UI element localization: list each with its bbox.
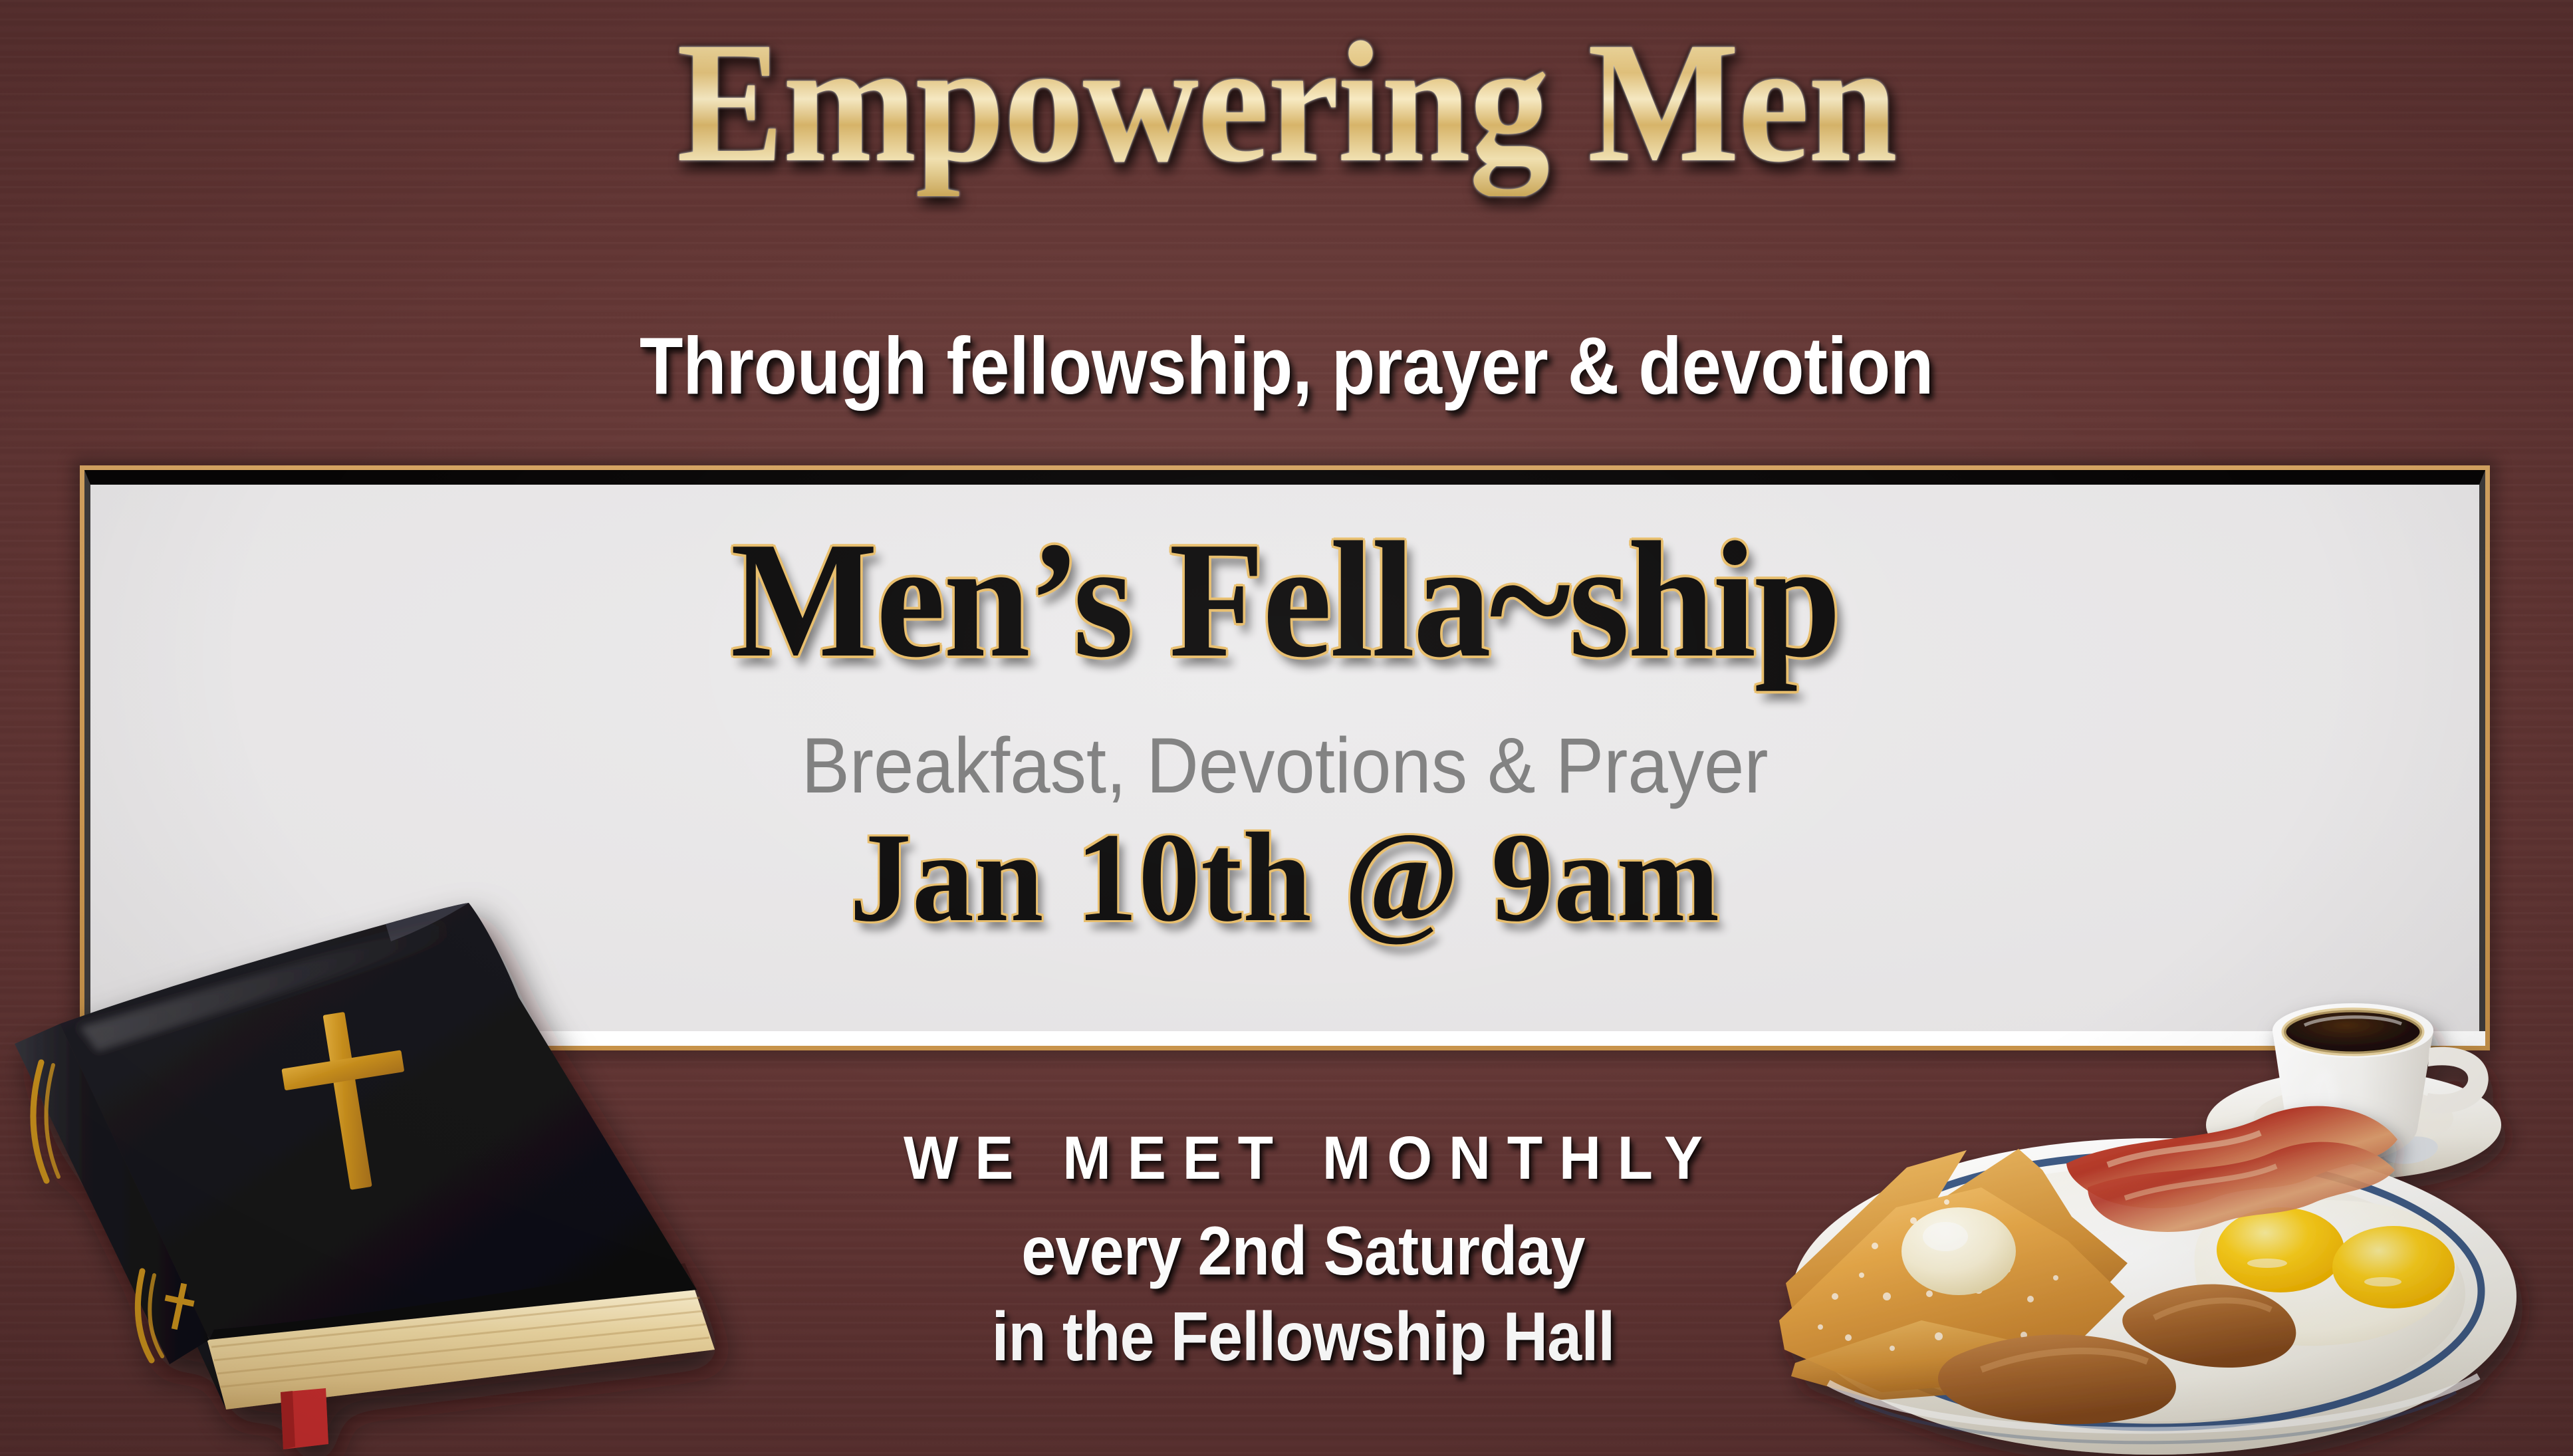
toast-slice-back [1786, 1149, 2128, 1374]
bacon-strip-2 [2088, 1142, 2395, 1232]
spoon-icon [2221, 1133, 2439, 1185]
bible-pages [206, 1290, 715, 1409]
sausage-links [1938, 1284, 2296, 1425]
bible-spine-cross-icon [165, 1283, 195, 1330]
banner-canvas: Empowering Men Through fellowship, praye… [0, 0, 2573, 1456]
bacon-strips [2066, 1106, 2397, 1232]
toast-slice-bottom [1791, 1320, 2041, 1400]
cup-handle [2424, 1047, 2489, 1114]
powdered-sugar [1818, 1199, 2058, 1352]
event-panel-border: Men’s Fella~ship Breakfast, Devotions & … [84, 470, 2485, 1046]
page-subtitle: Through fellowship, prayer & devotion [154, 319, 2419, 412]
event-panel-body: Men’s Fella~ship Breakfast, Devotions & … [84, 470, 2485, 1036]
toast-slice-front [1779, 1187, 2125, 1392]
sausage-1 [2122, 1284, 2296, 1368]
event-tagline: Breakfast, Devotions & Prayer [186, 721, 2384, 811]
plate-blue-stripe [1827, 1155, 2481, 1427]
bacon-strip-1 [2066, 1106, 2397, 1209]
fried-eggs [2195, 1200, 2457, 1346]
event-headline: Men’s Fella~ship [162, 505, 2407, 696]
event-date-time: Jan 10th @ 9am [126, 804, 2443, 951]
panel-bottom-strip [84, 1031, 2485, 1046]
french-toast [1779, 1149, 2128, 1400]
breakfast-plate [1779, 1106, 2516, 1455]
plate-rim [1792, 1138, 2516, 1455]
meeting-location: in the Fellowship Hall [836, 1298, 1770, 1377]
saucer [2206, 1070, 2501, 1179]
bible-spine-gold-arc-top [33, 1062, 59, 1181]
bible-spine [15, 1024, 209, 1364]
egg-yolk-left [2217, 1207, 2344, 1292]
sausage-2 [1938, 1334, 2176, 1424]
egg-white [2195, 1200, 2457, 1346]
butter-dollop [1901, 1207, 2016, 1295]
egg-yolk-right [2332, 1226, 2455, 1308]
bible-ribbon-bookmark [281, 1388, 328, 1449]
bible-page-lines [211, 1298, 709, 1387]
meeting-info: WE MEET MONTHLY every 2nd Saturday in th… [785, 1124, 1822, 1377]
bible-spine-side [60, 1024, 226, 1409]
bible-spine-gold-arc-bottom [138, 1271, 162, 1360]
meeting-day: every 2nd Saturday [836, 1212, 1770, 1291]
page-title: Empowering Men [90, 9, 2483, 196]
meeting-frequency: WE MEET MONTHLY [810, 1124, 1796, 1193]
plate-well [1843, 1166, 2465, 1421]
event-panel: Men’s Fella~ship Breakfast, Devotions & … [80, 465, 2490, 1050]
